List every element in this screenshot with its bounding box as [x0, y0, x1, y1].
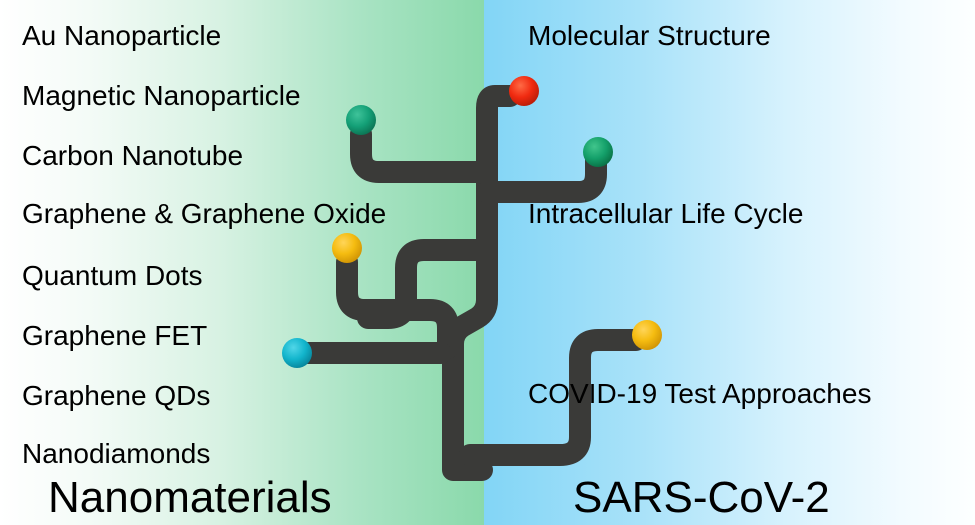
left-panel-title: Nanomaterials [48, 476, 332, 520]
nano-item-graphene-qds: Graphene QDs [22, 382, 210, 410]
nano-item-nanodiamonds: Nanodiamonds [22, 440, 210, 468]
branch-upper-right [487, 160, 596, 192]
node-yellow-right [632, 320, 662, 350]
figure-canvas: Au Nanoparticle Magnetic Nanoparticle Ca… [0, 0, 975, 525]
node-yellow-left [332, 233, 362, 263]
node-red-upper-right [509, 76, 539, 106]
node-teal-upper-left [346, 105, 376, 135]
right-panel-title: SARS-CoV-2 [573, 476, 830, 520]
virus-item-intracellular-life-cycle: Intracellular Life Cycle [528, 200, 803, 228]
nano-item-graphene-fet: Graphene FET [22, 322, 207, 350]
node-green-right [583, 137, 613, 167]
nano-item-magnetic-nanoparticle: Magnetic Nanoparticle [22, 82, 301, 110]
virus-item-molecular-structure: Molecular Structure [528, 22, 771, 50]
nano-item-graphene-and-graphene-oxide: Graphene & Graphene Oxide [22, 200, 386, 228]
node-cyan-lower-left [282, 338, 312, 368]
nano-item-quantum-dots: Quantum Dots [22, 262, 203, 290]
branch-upper-left [361, 134, 487, 172]
nano-item-carbon-nanotube: Carbon Nanotube [22, 142, 243, 170]
nano-item-au-nanoparticle: Au Nanoparticle [22, 22, 221, 50]
virus-item-covid-19-test-approaches: COVID-19 Test Approaches [528, 380, 871, 408]
branch-main-trunk [453, 96, 510, 470]
